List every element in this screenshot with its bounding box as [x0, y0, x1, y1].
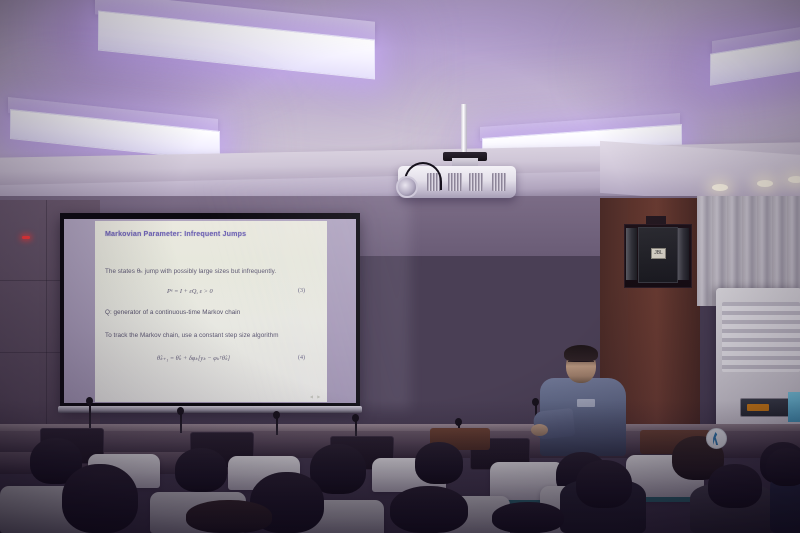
presenter-glasses-icon — [568, 361, 594, 367]
audience-head-b4 — [576, 460, 632, 508]
slide-equation-3: Pᵉ = I + εQ, ε > 0 — [167, 288, 213, 295]
downlight-2 — [757, 180, 773, 187]
wall-seam-3 — [46, 200, 47, 450]
audience-head-a4 — [415, 442, 463, 484]
projector-vent-2 — [448, 173, 462, 191]
projector-vent-4 — [492, 173, 506, 191]
projector-vent-3 — [469, 173, 483, 191]
slide-nav-icons[interactable]: ◀ ▶ — [310, 394, 322, 399]
audience-head-b5 — [708, 464, 762, 508]
speaker-side-right — [678, 228, 689, 280]
slide-line-2: Q: generator of a continuous-time Markov… — [105, 309, 240, 316]
slide-line-3: To track the Markov chain, use a constan… — [105, 332, 279, 339]
audience-head-b3 — [390, 486, 468, 533]
audience-head-b6 — [766, 448, 800, 486]
wall-seam-2 — [0, 352, 62, 353]
audience-head-b7 — [186, 500, 272, 533]
status-led-indicator — [22, 236, 30, 239]
downlight-3 — [788, 176, 800, 183]
speaker-brand-logo: JBL — [651, 248, 666, 259]
slide-equation-3-number: (3) — [298, 288, 305, 294]
speaker-side-left — [626, 228, 637, 280]
slide-title: Markovian Parameter: Infrequent Jumps — [105, 230, 246, 238]
presenter-hair — [564, 345, 598, 362]
presenter-hand — [531, 424, 548, 436]
microphone-stem-2 — [180, 413, 182, 433]
chair-badge-icon — [706, 428, 727, 449]
microphone-stem-4 — [355, 420, 357, 436]
audience-head-b8 — [492, 502, 564, 533]
slide-line-1: The states θₖ jump with possibly large s… — [105, 268, 276, 275]
air-conditioner-badge — [788, 392, 800, 422]
audience-head-b1 — [62, 464, 138, 533]
air-conditioner-display-segment — [747, 404, 769, 411]
air-conditioner-display[interactable] — [740, 398, 792, 417]
microphone-stem-1 — [89, 403, 91, 431]
wall-seam-1 — [0, 280, 62, 281]
slide-equation-4: θ̂ₖ₊₁ = θ̂ₖ + δφₖ[yₖ − φₖᵀθ̂ₖ] — [157, 355, 230, 362]
projector-mount-pole — [461, 104, 467, 156]
presentation-slide: Markovian Parameter: Infrequent Jumps Th… — [95, 221, 327, 402]
projector-lens — [396, 176, 418, 198]
presenter-shirt-pocket — [577, 399, 595, 407]
slide-equation-4-number: (4) — [298, 355, 305, 361]
screen-bottom-bar — [58, 406, 362, 413]
microphone-stem-3 — [276, 417, 278, 435]
downlight-1 — [712, 184, 728, 191]
lecture-hall-photo: JBL Markovian Parameter: Infrequent Jump… — [0, 0, 800, 533]
audience-head-a2 — [175, 448, 227, 492]
air-conditioner-grille — [722, 302, 800, 372]
